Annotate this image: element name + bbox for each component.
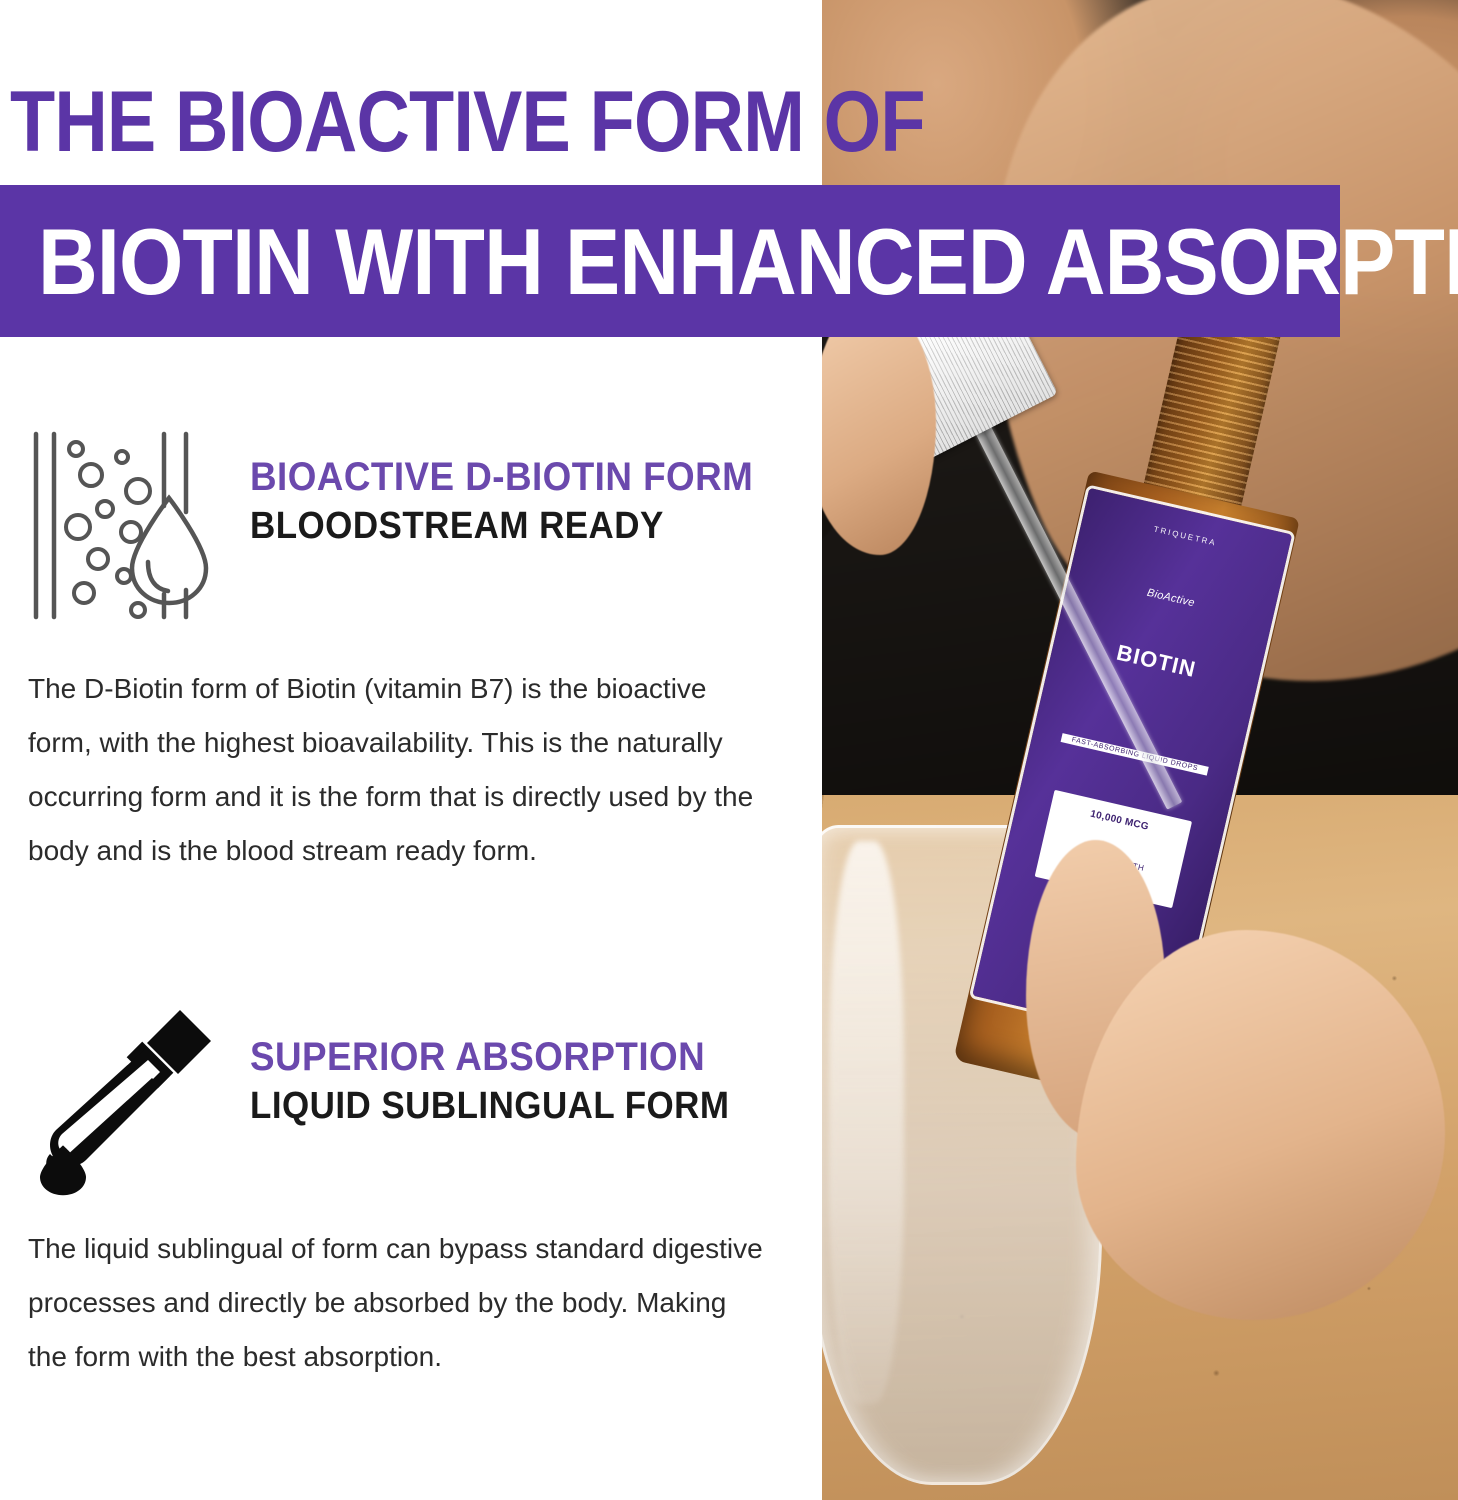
dropper-pipette-icon bbox=[28, 1008, 213, 1203]
feature-1-body: The D-Biotin form of Biotin (vitamin B7)… bbox=[28, 662, 773, 878]
feature-1-title: BIOACTIVE D-BIOTIN FORM bbox=[250, 454, 751, 500]
feature-2-text: SUPERIOR ABSORPTION LIQUID SUBLINGUAL FO… bbox=[250, 1034, 795, 1128]
feature-2-title: SUPERIOR ABSORPTION bbox=[250, 1034, 751, 1080]
headline-line-1: THE BIOACTIVE FORM OF bbox=[10, 74, 698, 170]
feature-1-subtitle: BLOODSTREAM READY bbox=[250, 504, 751, 548]
feature-1-text: BIOACTIVE D-BIOTIN FORM BLOODSTREAM READ… bbox=[250, 454, 795, 548]
infographic-page: TRIQUETRA BioActive BIOTIN FAST-ABSORBIN… bbox=[0, 0, 1458, 1500]
headline-line-2: BIOTIN WITH ENHANCED ABSORPTION bbox=[38, 210, 1458, 314]
feature-2-body: The liquid sublingual of form can bypass… bbox=[28, 1222, 773, 1384]
hair-strand-droplet-icon bbox=[28, 428, 213, 623]
feature-2-subtitle: LIQUID SUBLINGUAL FORM bbox=[250, 1084, 751, 1128]
label-product-line: BioActive bbox=[1068, 569, 1273, 627]
